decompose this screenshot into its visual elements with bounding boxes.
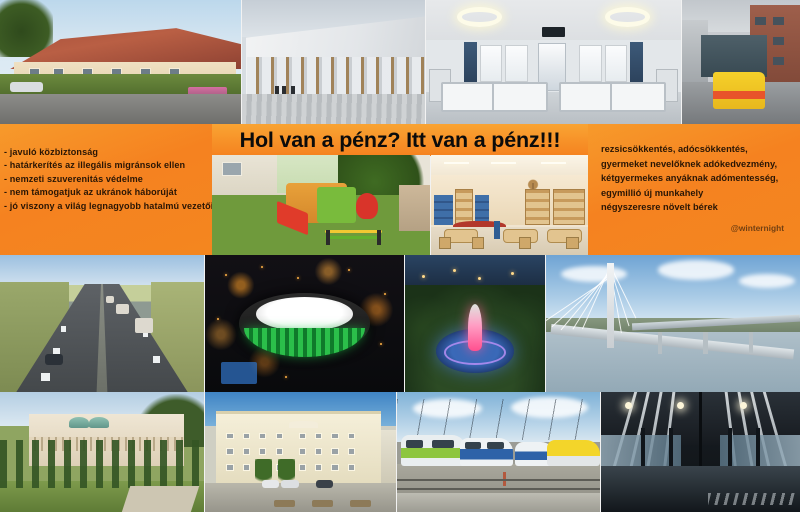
bench (350, 500, 371, 507)
window (226, 433, 233, 439)
plaza-paving (242, 94, 425, 124)
window (773, 57, 784, 65)
bridge-pier (703, 332, 707, 354)
person (291, 86, 295, 95)
blue-lockers (434, 195, 453, 225)
window (299, 433, 306, 439)
headline-strip: Hol van a pénz? Itt van a pénz!!! (212, 124, 588, 156)
light-speck (297, 277, 299, 279)
bridge-pier (658, 332, 662, 354)
ceiling-lamp (625, 402, 632, 409)
window (299, 448, 306, 454)
palace-facade (216, 411, 380, 485)
bench-back (325, 236, 382, 240)
platform-floor (601, 466, 800, 512)
trimmed-hedges (0, 440, 204, 488)
window (773, 37, 784, 45)
window (276, 433, 283, 439)
promise-list-security: - javuló közbiztonság - határkerítés az … (4, 146, 212, 213)
bench (312, 500, 333, 507)
dome (89, 417, 109, 429)
left-orange-panel: - javuló közbiztonság - határkerítés az … (0, 124, 212, 255)
water-jet (468, 304, 482, 351)
train-window (487, 442, 504, 449)
train-window (432, 440, 454, 448)
car (316, 480, 333, 488)
poster-collage: - javuló közbiztonság - határkerítés az … (0, 0, 800, 512)
window (348, 464, 355, 470)
photo-municipal-building (0, 0, 241, 124)
train-window (465, 442, 481, 449)
window (243, 464, 250, 470)
window (315, 464, 322, 470)
child (494, 221, 500, 239)
window (480, 45, 503, 82)
wooden-shelf (455, 189, 474, 225)
ceiling-lamp (491, 162, 516, 164)
truck (106, 296, 114, 303)
dome (69, 417, 89, 429)
list-item: egymillió új munkahely (601, 186, 800, 201)
glass-facade (701, 35, 767, 77)
list-item: - jó viszony a világ legnagyobb hatalmú … (4, 200, 212, 213)
window (226, 448, 233, 454)
train-yellow (547, 440, 600, 466)
page-title: Hol van a pénz? Itt van a pénz!!! (240, 128, 561, 153)
window (276, 448, 283, 454)
rail (397, 488, 600, 490)
photo-modern-white-building (242, 0, 425, 124)
bench-leg (326, 230, 330, 245)
window (331, 433, 338, 439)
glass-wall (720, 435, 800, 466)
parked-car (10, 82, 44, 92)
building-wall (212, 155, 286, 195)
photo-modern-trains (397, 392, 600, 512)
light-speck (285, 376, 287, 378)
shed (399, 185, 430, 231)
train-green (401, 435, 466, 466)
bench (274, 500, 295, 507)
platform (397, 493, 600, 512)
ceiling-lamp (444, 162, 469, 164)
ceiling (431, 155, 588, 177)
photo-stadium-aerial-night (205, 255, 404, 392)
window (605, 45, 628, 82)
car (262, 480, 279, 488)
car (45, 354, 63, 365)
wooden-shelf (525, 189, 550, 225)
light-speck (217, 318, 219, 320)
bridge-pier (749, 332, 753, 354)
watermark: @winternight (731, 223, 784, 233)
bridge-pylon (607, 263, 614, 348)
light-speck (261, 266, 263, 268)
list-item: - javuló közbiztonság (4, 146, 212, 159)
hospital-bed (441, 82, 497, 112)
window (579, 45, 602, 82)
light-speck (453, 269, 456, 272)
photo-playground (212, 155, 430, 255)
road (0, 94, 241, 124)
window (299, 464, 306, 470)
truck (135, 318, 153, 333)
list-item: - határkerítés az illegális migránsok el… (4, 159, 212, 172)
wall-tv (542, 27, 565, 37)
train-window (406, 440, 423, 448)
bench-seat (325, 230, 382, 234)
photo-hospital-room (426, 0, 681, 124)
photo-varkert-bazar (0, 392, 204, 512)
person (275, 86, 279, 95)
hospital-bed (492, 82, 548, 112)
lit-blue-building (221, 362, 257, 384)
right-orange-panel: rezsicsökkentés, adócsökkentés, gyermeke… (588, 124, 800, 255)
window (222, 162, 241, 176)
photo-motorway (0, 255, 204, 392)
garden-path (122, 486, 200, 512)
window (243, 448, 250, 454)
park-bench (325, 223, 382, 245)
spring-rider (356, 193, 378, 219)
hospital-bed (559, 82, 615, 112)
sky (0, 255, 204, 285)
light-speck (511, 272, 514, 275)
cloud (739, 274, 795, 288)
childrens-chair (472, 237, 485, 249)
window (259, 433, 266, 439)
window (315, 433, 322, 439)
list-item: - nemzeti szuverenitás védelme (4, 173, 212, 186)
window (226, 464, 233, 470)
lane-marking (61, 326, 66, 331)
window (259, 448, 266, 454)
window (348, 433, 355, 439)
window (331, 448, 338, 454)
window (331, 464, 338, 470)
stadium-bowl (239, 293, 370, 353)
photo-ambulance (682, 0, 800, 124)
ambulance-van (713, 72, 765, 109)
window (505, 45, 528, 82)
window (243, 433, 250, 439)
window (773, 17, 784, 25)
childrens-chair (566, 237, 579, 249)
play-structure-green (317, 187, 356, 223)
curtain (630, 42, 643, 83)
lane-marking (153, 356, 160, 363)
photo-kindergarten-classroom (431, 155, 588, 255)
light-speck (478, 277, 481, 280)
lane-marking (41, 373, 50, 381)
pediment (289, 421, 319, 427)
train-blue (460, 438, 513, 467)
curtain (464, 42, 477, 83)
overhead-wires (397, 399, 600, 440)
car (281, 480, 298, 488)
window (315, 448, 322, 454)
ceiling-lamp (740, 402, 747, 409)
promise-list-economy: rezsicsökkentés, adócsökkentés, gyermeke… (601, 142, 800, 215)
bench-leg (377, 230, 381, 245)
hospital-bed (610, 82, 666, 112)
list-item: rezsicsökkentés, adócsökkentés, (601, 142, 800, 157)
truck (116, 304, 128, 314)
ceiling-lamp (677, 402, 684, 409)
person (282, 86, 286, 95)
rail (397, 479, 600, 481)
window (755, 17, 766, 25)
childrens-chair (519, 237, 532, 249)
list-item: kétgyermekes anyáknak adómentesség, (601, 171, 800, 186)
window (348, 448, 355, 454)
wooden-shelf (553, 189, 584, 225)
tactile-paving (708, 493, 796, 505)
ceiling-lamp (541, 162, 566, 164)
light-speck (422, 275, 425, 278)
photo-cable-stayed-bridge (546, 255, 800, 392)
photo-classical-palace (205, 392, 396, 512)
list-item: - nem támogatjuk az ukránok háborúját (4, 186, 212, 199)
list-item: gyermeket nevelőknek adókedvezmény, (601, 157, 800, 172)
street (205, 483, 396, 512)
photo-musical-fountain (405, 255, 545, 392)
cloud (658, 260, 734, 279)
photo-railway-station-platform (601, 392, 800, 512)
list-item: négyszeresre növelt bérek (601, 200, 800, 215)
light-speck (380, 343, 382, 345)
childrens-chair (439, 237, 452, 249)
